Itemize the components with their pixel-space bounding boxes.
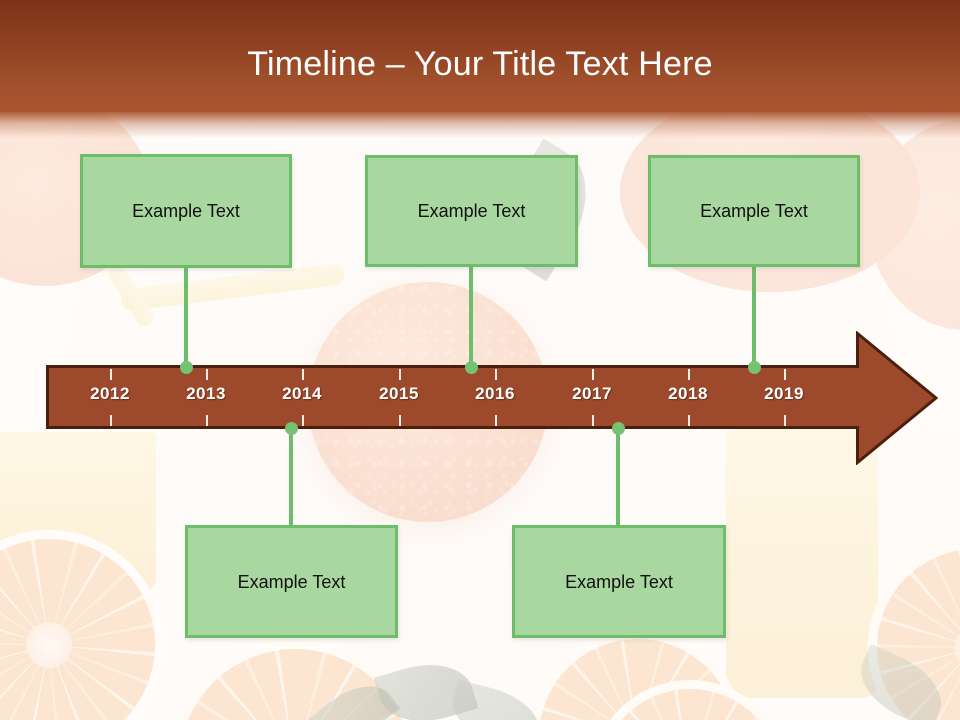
callout-text: Example Text (188, 570, 395, 594)
timeline-tick-bottom (302, 415, 304, 426)
timeline-tick-bottom (592, 415, 594, 426)
timeline-node-dot[interactable] (285, 422, 298, 435)
timeline-tick-top (784, 369, 786, 380)
timeline-year-label: 2017 (552, 384, 632, 404)
callout-text: Example Text (515, 570, 723, 594)
timeline-year-label: 2016 (455, 384, 535, 404)
callout-connector-line (184, 268, 188, 366)
timeline-tick-top (495, 369, 497, 380)
timeline-node-dot[interactable] (612, 422, 625, 435)
timeline-tick-top (206, 369, 208, 380)
timeline-callout-box[interactable]: Example Text (365, 155, 578, 267)
timeline-tick-bottom (688, 415, 690, 426)
timeline-year-label: 2015 (359, 384, 439, 404)
timeline-year-label: 2018 (648, 384, 728, 404)
timeline-callout-box[interactable]: Example Text (80, 154, 292, 268)
timeline-tick-top (399, 369, 401, 380)
callout-connector-line (289, 428, 293, 525)
timeline-tick-bottom (784, 415, 786, 426)
page-title: Timeline – Your Title Text Here (0, 43, 960, 85)
title-banner-fade (0, 112, 960, 138)
timeline-tick-top (302, 369, 304, 380)
callout-connector-line (752, 267, 756, 366)
timeline-tick-bottom (206, 415, 208, 426)
timeline-tick-top (688, 369, 690, 380)
timeline-tick-top (110, 369, 112, 380)
callout-connector-line (469, 267, 473, 366)
timeline-year-label: 2013 (166, 384, 246, 404)
timeline-node-dot[interactable] (748, 361, 761, 374)
timeline-node-dot[interactable] (180, 361, 193, 374)
timeline-callout-box[interactable]: Example Text (512, 525, 726, 638)
callout-text: Example Text (368, 199, 575, 223)
timeline-callout-box[interactable]: Example Text (648, 155, 860, 267)
timeline-year-label: 2014 (262, 384, 342, 404)
timeline-tick-top (592, 369, 594, 380)
timeline-callout-box[interactable]: Example Text (185, 525, 398, 638)
timeline-tick-bottom (399, 415, 401, 426)
timeline-year-label: 2012 (70, 384, 150, 404)
timeline-node-dot[interactable] (465, 361, 478, 374)
callout-connector-line (616, 428, 620, 525)
timeline-tick-bottom (110, 415, 112, 426)
callout-text: Example Text (83, 199, 289, 223)
callout-text: Example Text (651, 199, 857, 223)
slide-canvas: Timeline – Your Title Text Here 20122013… (0, 0, 960, 720)
timeline-year-label: 2019 (744, 384, 824, 404)
timeline-tick-bottom (495, 415, 497, 426)
